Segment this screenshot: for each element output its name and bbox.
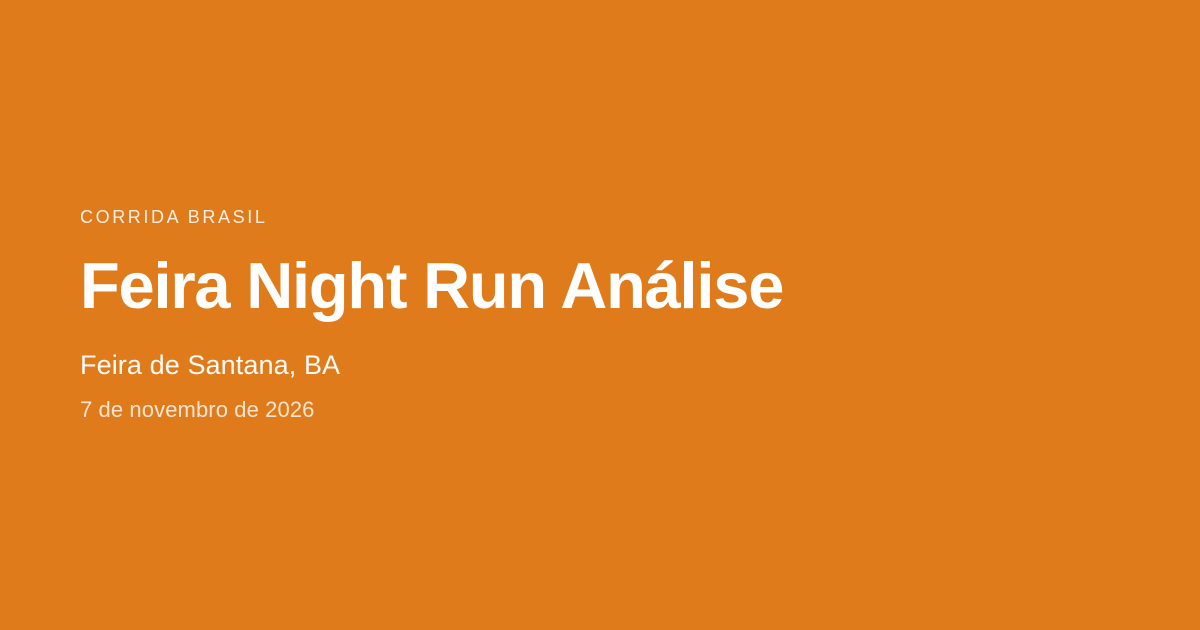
brand-eyebrow-label: CORRIDA BRASIL — [80, 206, 1080, 228]
hero-text-block: CORRIDA BRASIL Feira Night Run Análise F… — [80, 206, 1080, 424]
og-share-card: CORRIDA BRASIL Feira Night Run Análise F… — [0, 0, 1200, 630]
event-location: Feira de Santana, BA — [80, 348, 1080, 382]
event-date: 7 de novembro de 2026 — [80, 396, 1080, 424]
page-title: Feira Night Run Análise — [80, 250, 1080, 322]
